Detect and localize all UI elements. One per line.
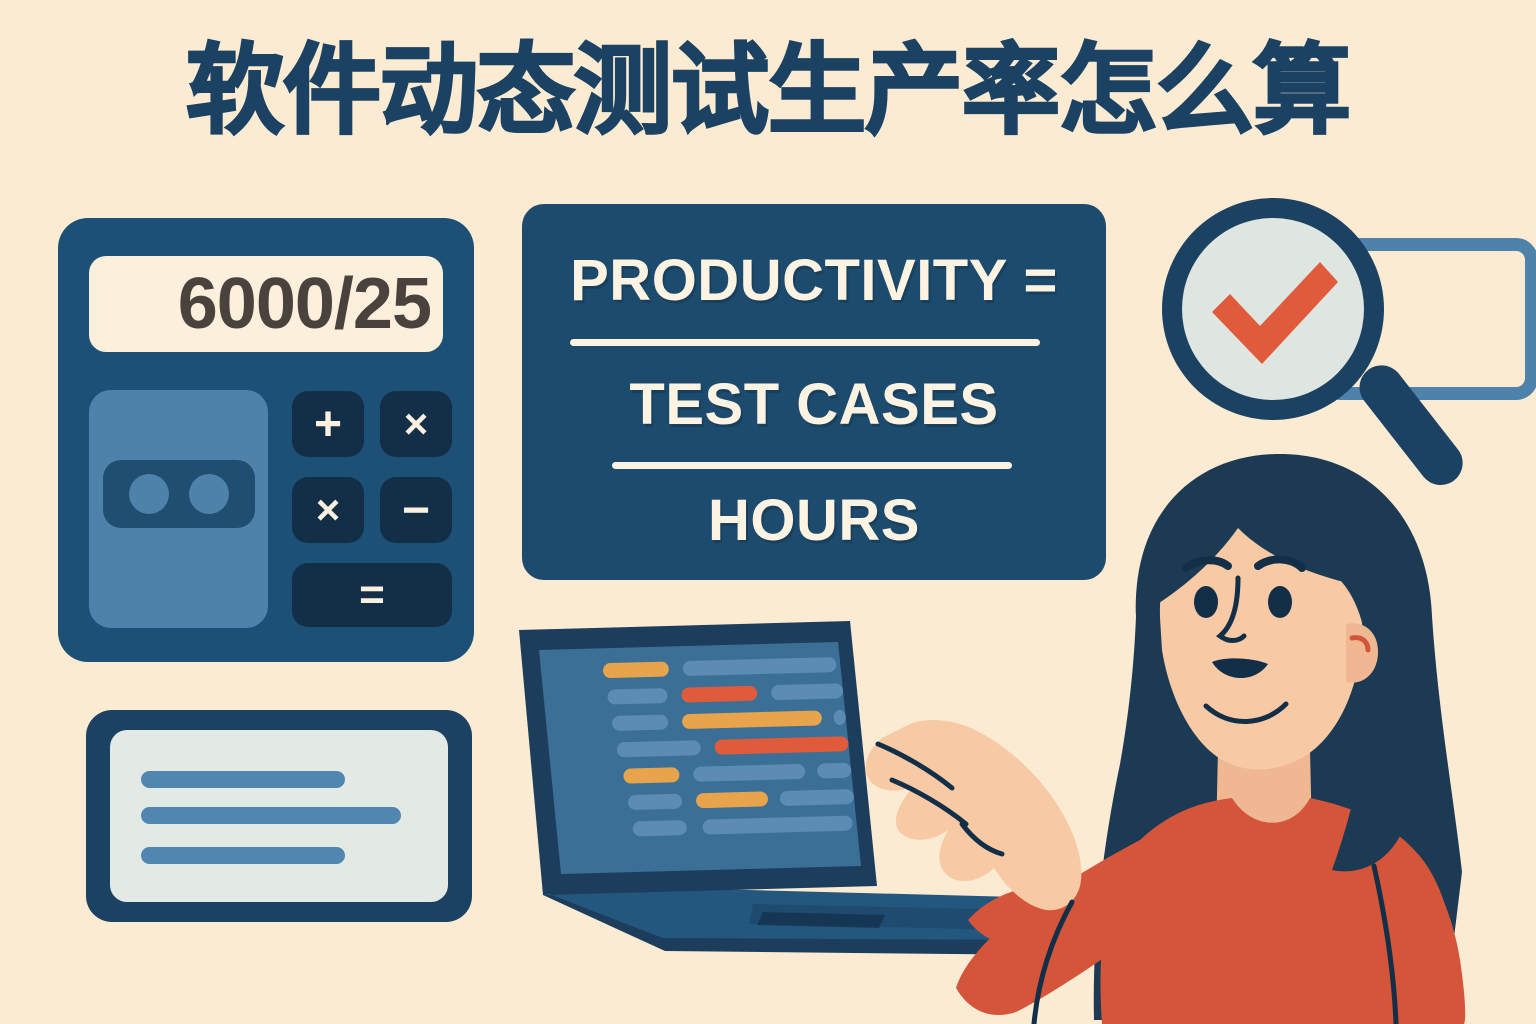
eye-left xyxy=(1194,586,1218,618)
panel-dot-left xyxy=(129,474,169,514)
calculator-key-multiply-1[interactable]: × xyxy=(380,391,452,457)
magnifier-ring xyxy=(1162,198,1384,420)
document-page xyxy=(110,730,448,902)
code-line-segment xyxy=(612,715,668,731)
formula-label: PRODUCTIVITY = xyxy=(522,252,1106,310)
document-text-line xyxy=(141,847,345,864)
page-title: 软件动态测试生产率怎么算 xyxy=(0,38,1536,144)
magnifier-lens xyxy=(1182,218,1364,400)
code-line-segment xyxy=(607,688,667,705)
panel-dot-right xyxy=(189,474,229,514)
code-line-segment xyxy=(633,820,687,836)
calculator-key-multiply-2[interactable]: × xyxy=(292,477,364,543)
formula-divider-top xyxy=(570,339,1040,346)
calculator-panel-inset xyxy=(103,460,255,528)
code-line-segment xyxy=(683,657,837,676)
document-text-line xyxy=(141,807,401,824)
hand-open-palm xyxy=(866,720,1082,910)
code-line-segment xyxy=(623,767,679,783)
calculator-side-panel xyxy=(89,390,268,628)
document-text-line xyxy=(141,771,345,788)
code-line-segment xyxy=(681,686,757,703)
code-line-segment xyxy=(696,791,768,808)
code-line-segment xyxy=(771,683,843,700)
eye-right xyxy=(1268,586,1292,618)
calculator-graphic: 6000/25 + × × − = xyxy=(58,218,474,662)
code-line-segment xyxy=(714,736,848,755)
calculator-key-minus[interactable]: − xyxy=(380,477,452,543)
check-mark-icon xyxy=(1204,250,1344,370)
calculator-display: 6000/25 xyxy=(89,256,443,352)
code-line-segment xyxy=(702,816,852,835)
calculator-display-value: 6000/25 xyxy=(178,268,431,340)
calculator-key-plus[interactable]: + xyxy=(292,391,364,457)
code-line-segment xyxy=(603,661,669,678)
code-line-segment xyxy=(628,794,682,810)
illustration-canvas: 软件动态测试生产率怎么算 6000/25 + × × − = PRODUCTIV… xyxy=(0,0,1536,1024)
code-line-segment xyxy=(682,710,822,729)
calculator-key-equals[interactable]: = xyxy=(292,563,452,627)
woman-presenting-icon xyxy=(840,420,1536,1024)
code-line-segment xyxy=(693,764,805,782)
person-svg xyxy=(840,420,1536,1024)
code-line-segment xyxy=(617,740,701,757)
document-card xyxy=(86,710,472,922)
